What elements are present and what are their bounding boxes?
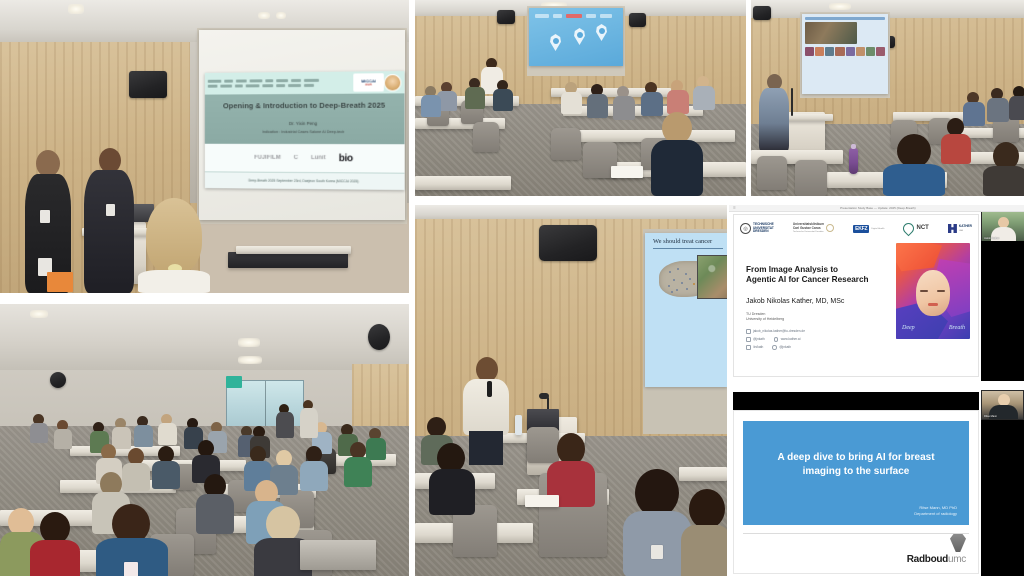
artwork-lips xyxy=(928,303,938,306)
slide-contact-block: jakob_nikolas.kather@tu-dresden.de @jnka… xyxy=(746,329,805,350)
miccai-badge: MICCAI 2025 xyxy=(353,73,384,91)
photo-collage: MICCAI 2025 Opening & Introduction to De… xyxy=(0,0,1024,576)
attendee xyxy=(54,420,72,446)
contact-website: www.kather.ai xyxy=(774,337,801,342)
wall-speaker xyxy=(129,71,167,98)
logo-uniklinikum-dresden: Universitatsklinikum Carl Gustav Carus T… xyxy=(793,223,834,233)
head xyxy=(635,469,679,517)
slide-author-block: Ritse Mann, MD PhD Department of radiolo… xyxy=(914,505,957,517)
slide-opening-introduction: MICCAI 2025 Opening & Introduction to De… xyxy=(205,71,405,190)
handheld-microphone-icon xyxy=(487,381,492,397)
body xyxy=(561,92,582,114)
attendee-foreground xyxy=(96,504,168,576)
logo-ekfz-mark: EKFZ xyxy=(853,225,869,233)
lecture-room-scene: MICCAI 2025 Opening & Introduction to De… xyxy=(0,0,409,293)
wall-speaker xyxy=(539,225,597,261)
ceiling-light xyxy=(258,12,270,19)
desk-row xyxy=(415,176,511,190)
teal-banner xyxy=(226,376,242,388)
sponsor-logo-2: C xyxy=(294,155,298,161)
slide-logo-row: ◎ TECHNISCHE UNIVERSITAT DRESDEN Univers… xyxy=(740,220,972,237)
name-badge xyxy=(651,545,663,559)
wall-speaker-left xyxy=(497,10,515,24)
attendee xyxy=(152,446,180,488)
miccai-badge-year: 2025 xyxy=(365,83,372,86)
presenter-right xyxy=(80,148,138,293)
microphone-stand xyxy=(791,88,793,116)
lecture-room-scene xyxy=(751,0,1024,196)
contact-twitter: @jnkath xyxy=(746,337,765,342)
slide-title: A deep dive to bring AI for breast imagi… xyxy=(753,451,959,478)
artwork-eye xyxy=(937,290,945,292)
presenter-right-badge xyxy=(106,204,115,216)
attendee xyxy=(196,474,234,534)
panel-zoom-kather-slide: ☰ Presentation Study Base — Update: 2025… xyxy=(729,205,1024,381)
paper-on-desk xyxy=(525,495,559,507)
body xyxy=(681,525,727,576)
nct-droplet-icon xyxy=(901,221,917,237)
sponsor-logo-strip xyxy=(208,79,354,88)
speaker-body xyxy=(463,379,509,435)
kather-lab-icon xyxy=(948,224,957,233)
linkedin-icon xyxy=(746,345,751,350)
slide-footer-text: Deep-Breath 2025 September 23rd, Daejeon… xyxy=(248,179,359,184)
body xyxy=(196,494,234,534)
attendee xyxy=(30,414,48,440)
head xyxy=(689,489,725,529)
artwork-word-right: Breath xyxy=(949,325,965,331)
attendee xyxy=(987,88,1009,118)
contact-github-text: @jnkath xyxy=(779,345,791,349)
body xyxy=(54,429,72,449)
body xyxy=(651,140,703,196)
artwork-face xyxy=(916,270,950,316)
panel-opening-session: MICCAI 2025 Opening & Introduction to De… xyxy=(0,0,409,293)
map-pin-icon xyxy=(595,24,608,41)
webcam-participant-name: Jakob Kather xyxy=(984,237,999,240)
body xyxy=(152,461,180,489)
wall-speaker-right xyxy=(629,13,646,27)
slide-title: We should treat cancer xyxy=(653,238,712,245)
microphone-head xyxy=(539,393,549,399)
zoom-shared-screen: ◎ TECHNISCHE UNIVERSITAT DRESDEN Univers… xyxy=(729,212,1024,381)
slide-title: From Image Analysis to Agentic AI for Ca… xyxy=(746,265,886,286)
zoom-letterbox-band xyxy=(733,392,979,410)
attendee xyxy=(693,76,715,106)
water-bottle xyxy=(849,148,858,174)
radboud-umc-logo: Radboudumc xyxy=(907,534,966,565)
logo-uniklinikum-line2: Carl Gustav Carus xyxy=(793,226,821,230)
presenter-left-head xyxy=(36,150,60,177)
logo-uniklinikum-line3: Technische Universitat Dresden xyxy=(793,231,824,233)
sponsor-logo-4: bio xyxy=(339,153,353,164)
zoom-topbar: ☰ Presentation Study Base — Update: 2025… xyxy=(729,205,1024,212)
foreground-attendee-body xyxy=(138,270,210,293)
slide-title-line2: imaging to the surface xyxy=(803,466,910,477)
attendee xyxy=(641,82,663,112)
attendee xyxy=(493,80,513,108)
body xyxy=(429,469,475,515)
sponsor-logo-1: FUJIFILM xyxy=(254,155,281,161)
logo-tu-dresden-line3: DRESDEN xyxy=(753,229,769,233)
ceiling-light xyxy=(238,338,260,347)
foreground-attendee-head xyxy=(146,198,202,274)
attendee xyxy=(587,84,608,114)
slide-affiliation: Indication : Industrial Cases Salone AI … xyxy=(262,130,344,134)
logo-ekfz: EKFZ Digital Health xyxy=(853,225,884,233)
conference-emblem-icon xyxy=(384,74,401,91)
slide-we-should-treat-cancer: We should treat cancer xyxy=(645,233,727,387)
slide-title-band: Opening & Introduction to Deep-Breath 20… xyxy=(205,93,405,144)
slide-presenter: Dr. Yixin Peng xyxy=(289,121,317,126)
logo-tu-dresden: ◎ TECHNISCHE UNIVERSITAT DRESDEN xyxy=(740,223,774,234)
contact-row: /in/kath @jnkath xyxy=(746,345,805,350)
body xyxy=(276,412,294,438)
body xyxy=(883,164,945,196)
map-pin-icon xyxy=(573,28,586,45)
slide-title-line1: A deep dive to bring AI for breast xyxy=(777,452,934,463)
attendee xyxy=(429,443,475,513)
body xyxy=(465,87,485,109)
slide-department: Department of radiology xyxy=(914,511,957,516)
attendee xyxy=(1009,86,1024,116)
webcam-participant-name: Ritse Mann xyxy=(984,415,997,418)
sign-card xyxy=(47,272,73,292)
ceiling-light xyxy=(238,356,262,364)
attendee xyxy=(158,414,177,442)
body xyxy=(300,408,318,438)
chair xyxy=(757,156,787,190)
wall-speaker-left xyxy=(753,6,771,20)
panel-audience-blue-slide xyxy=(415,0,746,196)
logo-kather-lab: KATHER LAB xyxy=(948,224,972,233)
slide-mann-title: A deep dive to bring AI for breast imagi… xyxy=(733,410,979,574)
slide-author: Jakob Nikolas Kather, MD, MSc xyxy=(746,298,844,305)
attendee xyxy=(112,418,131,446)
logo-kather-line2: LAB xyxy=(959,230,963,232)
body xyxy=(344,457,372,487)
zoom-share-window: ☰ Presentation Study Base — Update: 2025… xyxy=(729,205,1024,381)
logo-nct-text: NCT xyxy=(916,225,928,231)
contact-linkedin-text: /in/kath xyxy=(753,345,763,349)
body xyxy=(134,425,153,447)
presenter-right-body xyxy=(84,170,134,293)
panel-audience-wide xyxy=(0,304,409,576)
body xyxy=(613,96,635,120)
attendee xyxy=(561,82,582,110)
map-pin-icon xyxy=(549,34,562,51)
presenter-left-badge xyxy=(40,210,50,223)
contact-email-text: jakob_nikolas.kather@tu-dresden.de xyxy=(753,329,805,333)
attendee xyxy=(344,442,372,486)
attendee-foreground xyxy=(983,142,1024,196)
body xyxy=(300,461,328,491)
slide-title-line2: Agentic AI for Cancer Research xyxy=(746,275,869,284)
contact-linkedin: /in/kath xyxy=(746,345,763,350)
slide-author: Ritse Mann, MD PhD xyxy=(919,505,957,510)
foreground-attendee xyxy=(138,198,210,293)
body xyxy=(667,90,689,114)
body xyxy=(421,95,441,117)
name-badge xyxy=(124,562,138,576)
panel-zoom-mann-slide: A deep dive to bring AI for breast imagi… xyxy=(729,388,1024,576)
front-desk-surface xyxy=(236,246,351,254)
body xyxy=(941,134,971,164)
mail-icon xyxy=(746,329,751,334)
logo-nct: NCT xyxy=(903,223,928,234)
panel-speaker-podium xyxy=(751,0,1024,196)
body xyxy=(158,423,177,445)
body xyxy=(587,94,608,118)
logo-ekfz-sub: Digital Health xyxy=(871,228,884,230)
water-bottle-on-podium xyxy=(515,415,522,435)
attendee xyxy=(667,80,689,110)
zoom-participant-sidebar xyxy=(981,420,1024,576)
contact-row: jakob_nikolas.kather@tu-dresden.de xyxy=(746,329,805,334)
body xyxy=(30,423,48,443)
github-icon xyxy=(772,345,777,350)
ceiling-speaker xyxy=(368,324,390,350)
ceiling-light xyxy=(68,4,84,14)
slide-title: Opening & Introduction to Deep-Breath 20… xyxy=(223,101,385,111)
tu-dresden-icon: ◎ xyxy=(740,223,751,234)
contact-github: @jnkath xyxy=(772,345,791,350)
contact-twitter-text: @jnkath xyxy=(753,337,765,341)
body xyxy=(30,540,80,576)
body xyxy=(693,86,715,110)
chair xyxy=(795,160,827,196)
slide-title-line1: From Image Analysis to xyxy=(746,265,838,274)
body xyxy=(983,166,1024,196)
zoom-webcam-thumbnail[interactable]: Jakob Kather xyxy=(981,212,1024,241)
globe-icon xyxy=(774,337,779,342)
speaker-body xyxy=(759,88,789,152)
ceiling xyxy=(415,205,727,219)
head xyxy=(897,134,931,168)
slide-affiliation: TU Dresden University of Heidelberg xyxy=(746,312,784,322)
slide-title-rule xyxy=(653,248,723,249)
slide-footer: Deep-Breath 2025 September 23rd, Daejeon… xyxy=(205,171,405,190)
attendee-standing xyxy=(276,404,294,438)
slide-affiliation-line1: TU Dresden xyxy=(746,312,765,316)
logo-kather-line1: KATHER xyxy=(959,224,972,228)
sponsor-logo-3: Lunit xyxy=(311,155,326,161)
attendee-foreground xyxy=(883,134,945,196)
artwork-word-left: Deep xyxy=(902,325,915,331)
front-desk xyxy=(228,252,348,268)
slide-photo xyxy=(805,22,857,44)
chair xyxy=(551,128,581,160)
zoom-webcam-thumbnail[interactable]: Ritse Mann xyxy=(981,390,1024,420)
slide-sponsor-row: FUJIFILM C Lunit bio xyxy=(205,144,405,173)
attendee xyxy=(300,446,328,490)
slide-kather-title: ◎ TECHNISCHE UNIVERSITAT DRESDEN Univers… xyxy=(733,214,979,377)
ceiling-light xyxy=(30,310,48,318)
slide-header-bar xyxy=(805,17,885,20)
head xyxy=(427,417,446,437)
panel-speaker-microphone: We should treat cancer xyxy=(415,205,727,576)
zoom-share-window: A deep dive to bring AI for breast imagi… xyxy=(729,388,1024,576)
slide-results-grid xyxy=(802,14,888,94)
zoom-meeting-title: Presentation Study Base — Update: 2025 (… xyxy=(736,206,1020,210)
attendee xyxy=(134,416,153,444)
slide-affiliation-line2: University of Heidelberg xyxy=(746,317,784,321)
artwork-eye xyxy=(920,290,928,292)
body xyxy=(493,89,513,111)
radboud-suffix: umc xyxy=(948,554,966,565)
attendee xyxy=(941,118,971,162)
radboud-wordmark: Radboudumc xyxy=(907,554,966,565)
body xyxy=(987,98,1009,122)
contact-row: @jnkath www.kather.ai xyxy=(746,337,805,342)
histology-inset xyxy=(697,255,727,299)
radboud-crest-icon xyxy=(950,534,966,552)
lecture-room-scene xyxy=(415,0,746,196)
uniklinikum-seal-icon xyxy=(826,224,834,232)
wall-speaker xyxy=(50,372,66,388)
slide-image-grid xyxy=(805,47,885,56)
radboud-word: Radboud xyxy=(907,554,948,565)
slide-blue-map xyxy=(529,8,623,66)
attendee-foreground xyxy=(681,489,727,576)
lecture-room-scene xyxy=(0,304,409,576)
deep-breath-artwork: Deep Breath xyxy=(896,243,970,339)
head xyxy=(266,506,300,542)
ceiling-light xyxy=(829,3,851,10)
attendee xyxy=(421,86,441,114)
chair xyxy=(473,122,499,152)
slide-header-chips xyxy=(535,13,617,18)
contact-email: jakob_nikolas.kather@tu-dresden.de xyxy=(746,329,805,334)
contact-website-text: www.kather.ai xyxy=(781,337,801,341)
paper-on-desk xyxy=(611,166,643,178)
attendee xyxy=(613,86,635,116)
laptop xyxy=(300,540,376,570)
attendee xyxy=(465,78,485,106)
speaker xyxy=(759,74,789,152)
attendee-foreground xyxy=(30,512,80,576)
lecture-room-scene: We should treat cancer xyxy=(415,205,727,576)
body xyxy=(1009,96,1024,120)
ceiling xyxy=(0,304,409,370)
slide-title-panel: A deep dive to bring AI for breast imagi… xyxy=(743,421,969,525)
attendee-standing xyxy=(300,400,318,438)
twitter-icon xyxy=(746,337,751,342)
slide-logo-band: MICCAI 2025 xyxy=(205,71,405,95)
ceiling-light xyxy=(276,12,286,19)
attendee-foreground xyxy=(651,112,703,196)
